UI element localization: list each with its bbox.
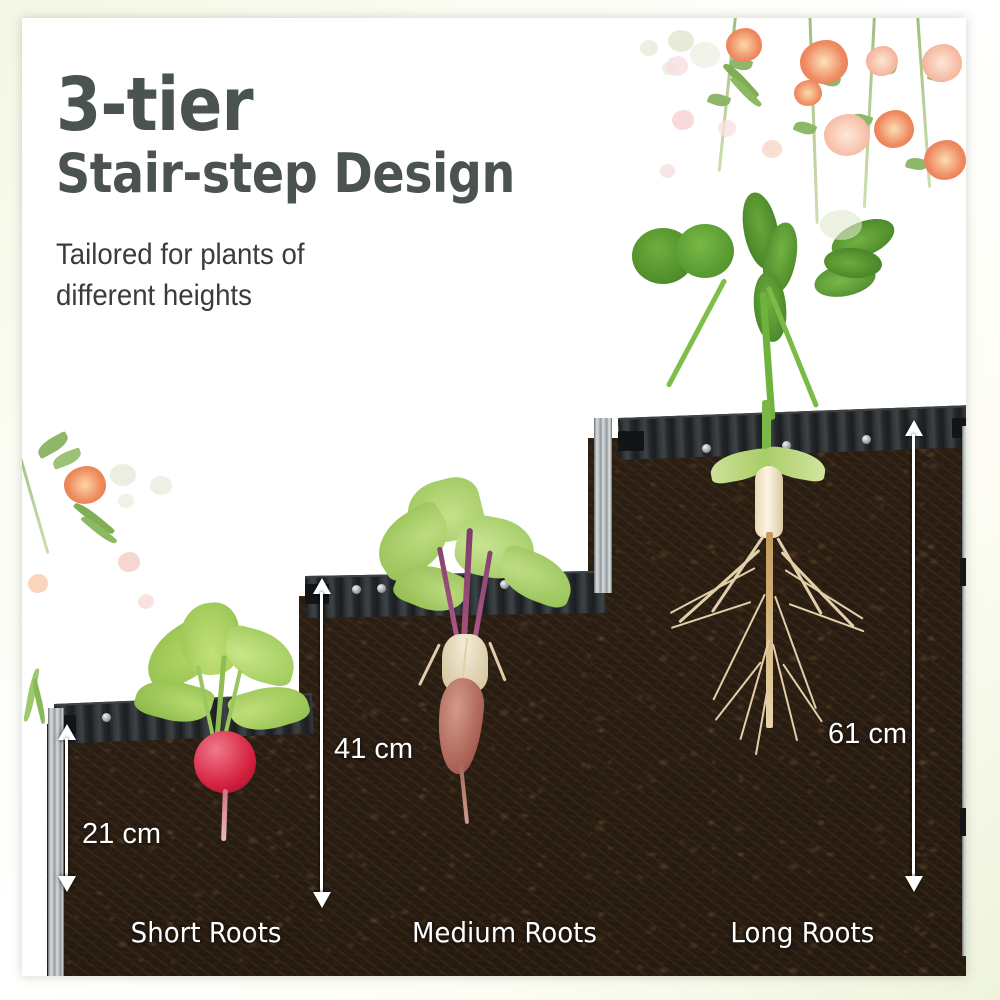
post-bracket-right-lower bbox=[960, 808, 966, 836]
infographic-page: 21 cm 41 cm 61 cm Short Roots Medium Roo… bbox=[0, 0, 1000, 1000]
root-main bbox=[766, 532, 773, 728]
dimension-line bbox=[65, 738, 68, 878]
caption-medium-roots: Medium Roots bbox=[412, 916, 597, 949]
planter-corner-post-right bbox=[962, 426, 966, 956]
root-strand bbox=[789, 603, 865, 632]
dimension-line bbox=[320, 592, 323, 894]
radish-bulb bbox=[194, 731, 256, 793]
root-strand bbox=[772, 644, 798, 742]
root-strand bbox=[784, 569, 863, 619]
planter-corner-post-left bbox=[48, 708, 64, 976]
subtitle: Tailored for plants of different heights bbox=[56, 235, 626, 316]
planter-corner-post-middle bbox=[594, 418, 612, 593]
dimension-line bbox=[912, 434, 915, 878]
screw-icon bbox=[352, 585, 361, 594]
radish-taproot bbox=[221, 789, 228, 841]
leaf-icon bbox=[219, 623, 301, 689]
plant-stem bbox=[766, 286, 819, 408]
page-title-line1: 3-tier bbox=[56, 70, 602, 141]
infographic-card: 21 cm 41 cm 61 cm Short Roots Medium Roo… bbox=[22, 18, 966, 976]
root-strand bbox=[418, 643, 441, 686]
root-strand bbox=[776, 537, 823, 615]
leaf-icon bbox=[492, 542, 579, 611]
leaf-icon bbox=[226, 677, 313, 739]
screw-icon bbox=[102, 713, 111, 722]
dimension-label-medium: 41 cm bbox=[334, 733, 413, 766]
page-title-line2: Stair-step Design bbox=[56, 147, 602, 201]
post-bracket-right-upper bbox=[960, 558, 966, 586]
dimension-label-long: 61 cm bbox=[828, 718, 907, 751]
arrow-down-icon bbox=[905, 876, 923, 892]
root-strand bbox=[488, 641, 507, 681]
caption-long-roots: Long Roots bbox=[730, 916, 874, 949]
plant-radish bbox=[132, 603, 312, 843]
leaf-icon bbox=[676, 224, 734, 278]
arrow-down-icon bbox=[313, 892, 331, 908]
dimension-label-short: 21 cm bbox=[82, 818, 161, 851]
sweet-potato-tuber bbox=[433, 676, 487, 776]
headline-block: 3-tier Stair-step Design Tailored for pl… bbox=[56, 70, 676, 316]
caption-short-roots: Short Roots bbox=[131, 916, 282, 949]
arrow-down-icon bbox=[58, 876, 76, 892]
root-strand bbox=[711, 535, 765, 613]
hypocotyl bbox=[755, 466, 783, 538]
